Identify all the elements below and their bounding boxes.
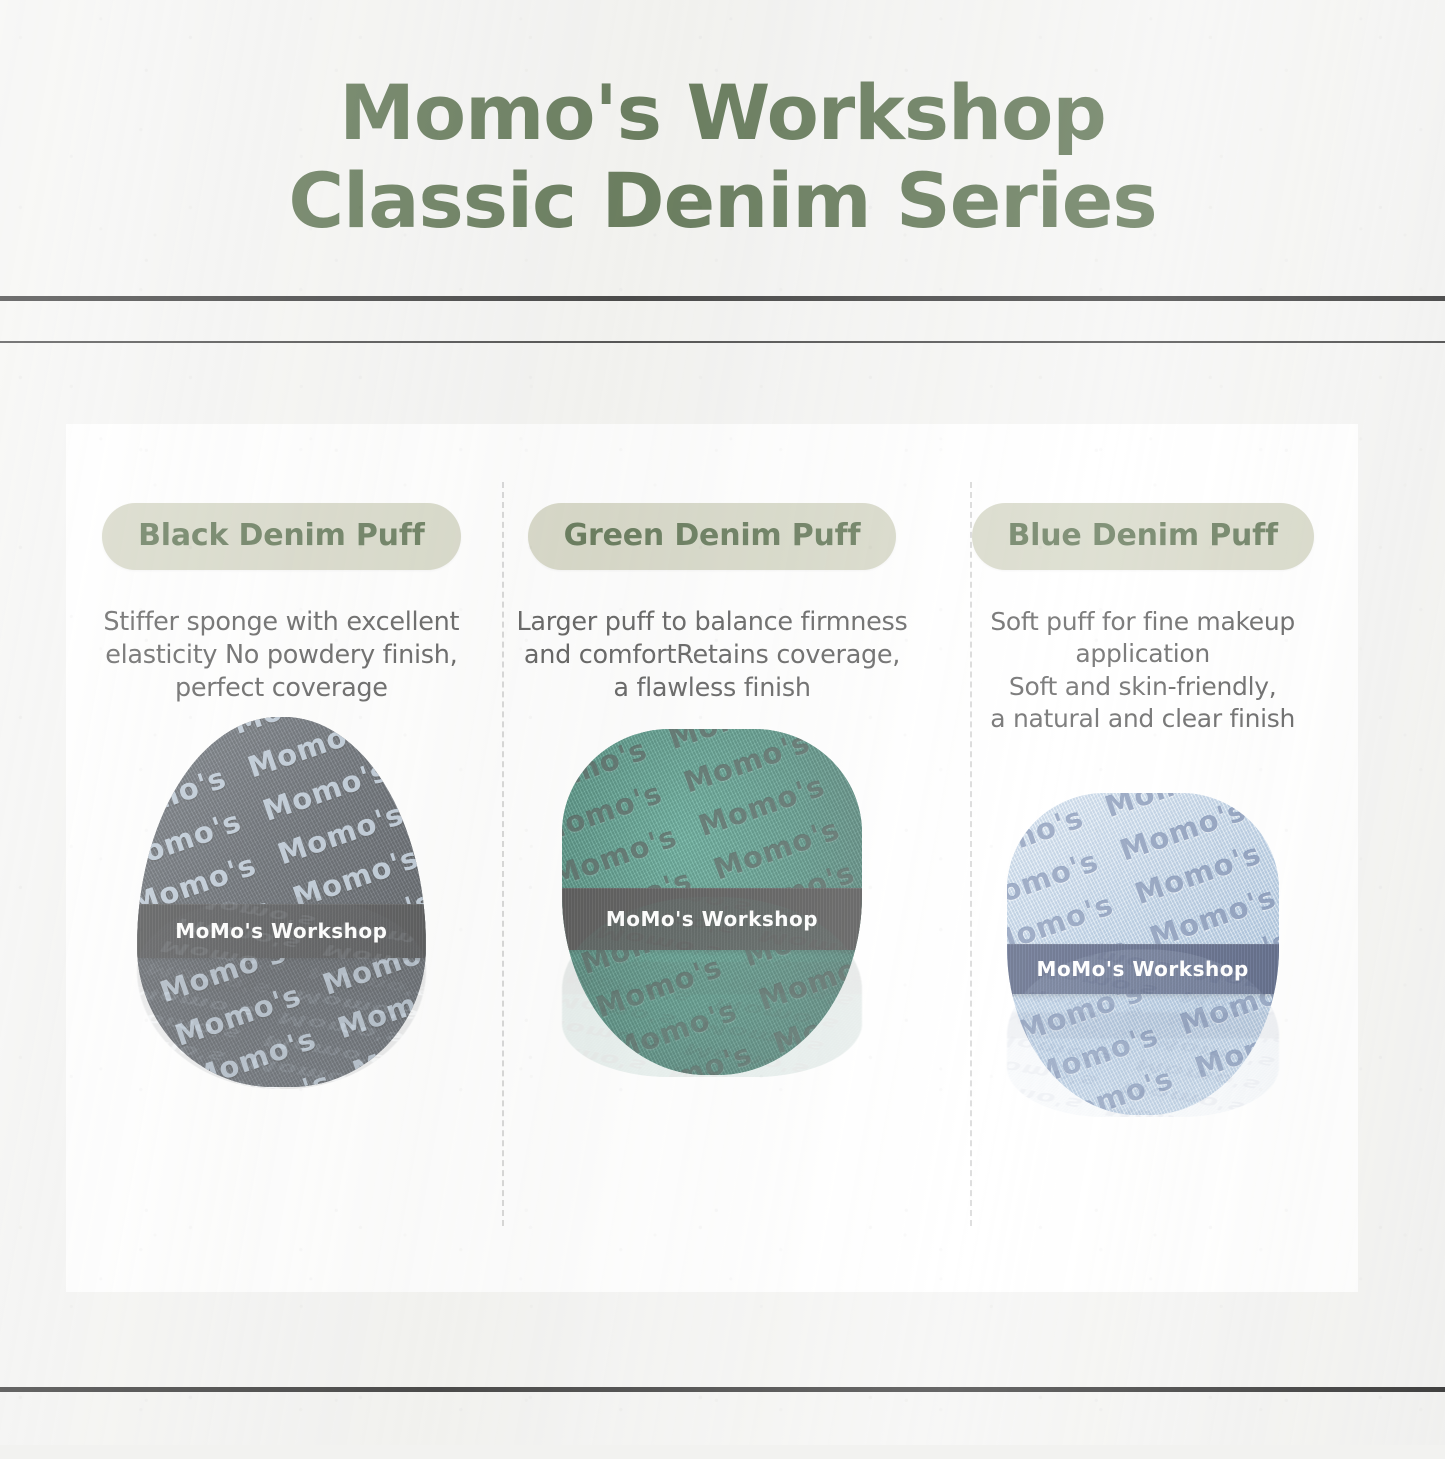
column-divider-1 [502, 482, 504, 1226]
title-line-1: Momo's Workshop [288, 69, 1156, 157]
product-title-green: Green Denim Puff [528, 503, 897, 570]
puff-black: Momo's Momo's Momo's Momo's Momo's Momo'… [137, 717, 426, 1087]
product-columns: Black Denim Puff Stiffer sponge with exc… [66, 424, 1358, 1292]
product-description-green: Larger puff to balance firmness and comf… [517, 606, 908, 705]
header-divider-thin [0, 341, 1445, 343]
product-image-area-black: Momo's Momo's Momo's Momo's Momo's Momo'… [66, 705, 497, 1459]
pattern-text-black: Momo's Momo's Momo's Momo's Momo's Momo'… [137, 717, 426, 1087]
column-divider-2 [970, 482, 972, 1226]
title-line-2: Classic Denim Series [288, 157, 1156, 245]
product-column-black: Black Denim Puff Stiffer sponge with exc… [66, 424, 497, 1292]
product-column-blue: Blue Denim Puff Soft puff for fine makeu… [927, 424, 1358, 1292]
page-title: Momo's Workshop Classic Denim Series [288, 51, 1156, 245]
puff-green: Momo's Momo's Momo's Momo's Momo's Momo'… [562, 729, 862, 1075]
product-image-area-green: Momo's Momo's Momo's Momo's Momo's Momo'… [497, 705, 928, 1423]
product-image-area-blue: Momo's Momo's Momo's Momo's Momo's Momo'… [927, 735, 1358, 1439]
product-column-green: Green Denim Puff Larger puff to balance … [497, 424, 928, 1292]
puff-strap-black: MoMo's Workshop [137, 904, 426, 958]
header-divider-thick [0, 296, 1445, 301]
page-header: Momo's Workshop Classic Denim Series [0, 0, 1445, 296]
product-title-black: Black Denim Puff [102, 503, 460, 570]
product-description-blue: Soft puff for fine makeup application So… [990, 606, 1295, 735]
strap-label-blue: MoMo's Workshop [1037, 957, 1249, 981]
strap-label-black: MoMo's Workshop [175, 919, 387, 943]
product-description-black: Stiffer sponge with excellent elasticity… [103, 606, 459, 705]
puff-strap-green: MoMo's Workshop [562, 888, 862, 950]
product-title-blue: Blue Denim Puff [972, 503, 1314, 570]
product-comparison-card: Black Denim Puff Stiffer sponge with exc… [66, 424, 1358, 1292]
puff-blue: Momo's Momo's Momo's Momo's Momo's Momo'… [1007, 793, 1279, 1115]
puff-strap-blue: MoMo's Workshop [1007, 944, 1279, 994]
footer-divider [0, 1387, 1445, 1392]
strap-label-green: MoMo's Workshop [606, 907, 818, 931]
